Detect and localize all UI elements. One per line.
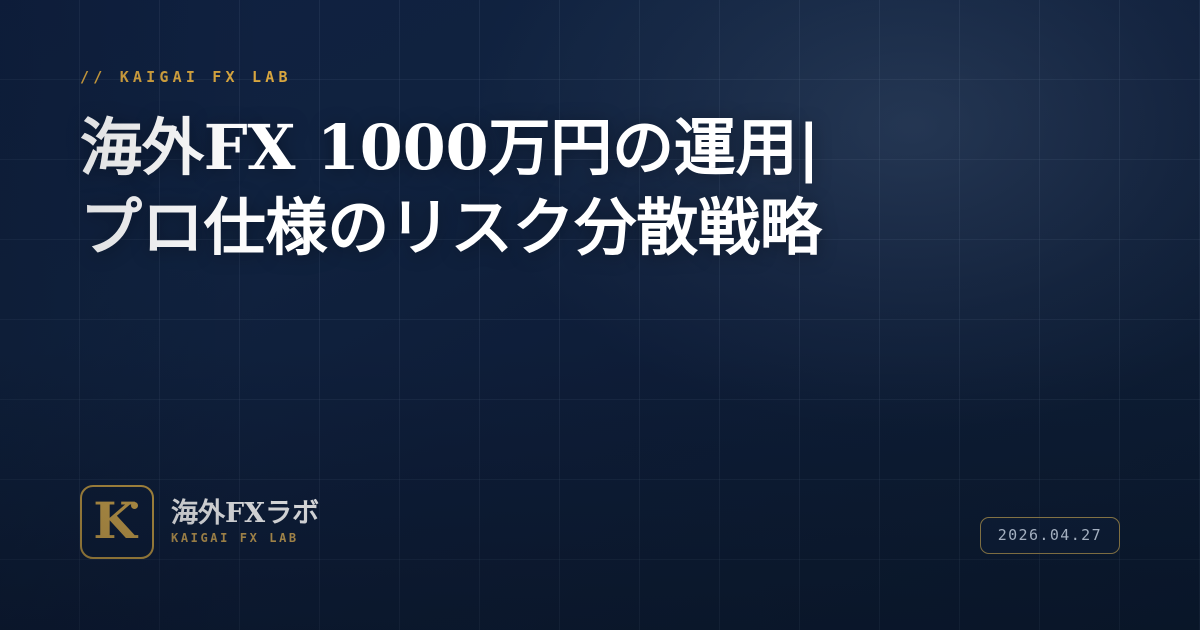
brand-logo-badge: K (80, 485, 154, 559)
page-title: 海外FX 1000万円の運用| プロ仕様のリスク分散戦略 (80, 108, 1090, 268)
brand-lockup: K 海外FXラボ KAIGAI FX LAB (80, 485, 319, 559)
og-card: // KAIGAI FX LAB 海外FX 1000万円の運用| プロ仕様のリス… (0, 0, 1200, 630)
brand-name-en: KAIGAI FX LAB (171, 531, 319, 545)
publish-date-badge: 2026.04.27 (980, 517, 1120, 554)
page-title-line-2: プロ仕様のリスク分散戦略 (80, 188, 1090, 268)
brand-text-block: 海外FXラボ KAIGAI FX LAB (171, 499, 319, 545)
brand-name-ja: 海外FXラボ (171, 499, 319, 528)
brand-logo-dot-icon (131, 502, 138, 509)
kicker-label: // KAIGAI FX LAB (80, 68, 292, 86)
page-title-line-1: 海外FX 1000万円の運用| (80, 108, 1090, 188)
